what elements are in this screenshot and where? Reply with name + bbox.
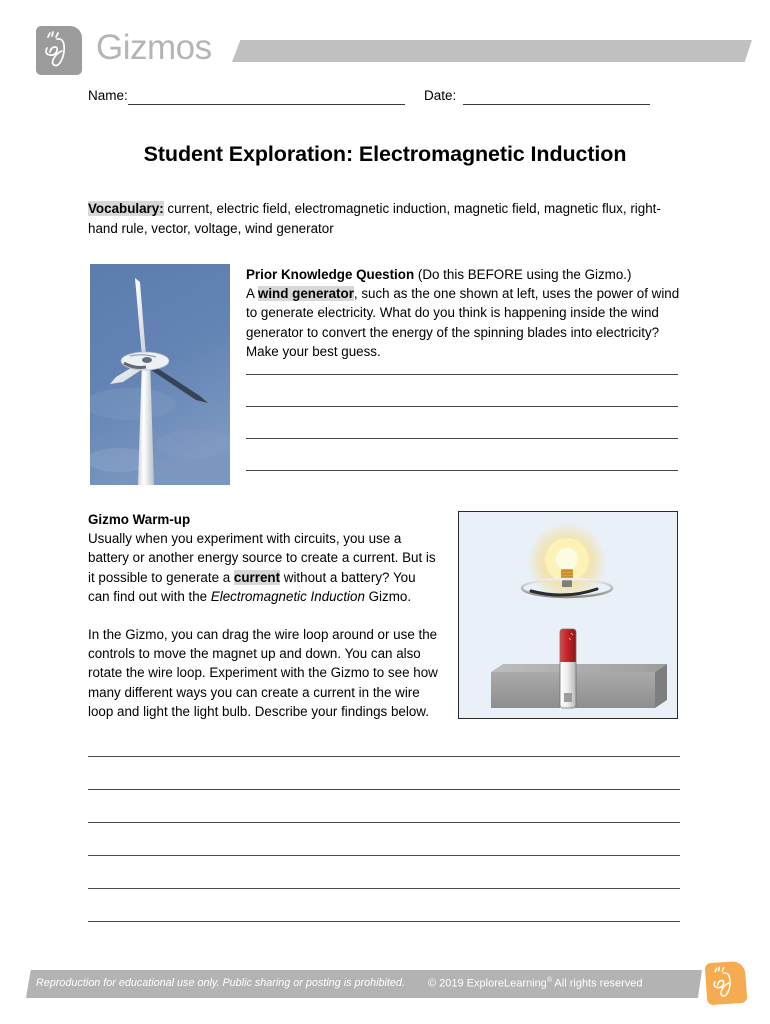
- answer-line[interactable]: [246, 406, 678, 407]
- warmup-answer-lines: [88, 756, 680, 954]
- answer-line[interactable]: [88, 888, 680, 889]
- wind-turbine-photo: [90, 264, 230, 485]
- answer-line[interactable]: [88, 756, 680, 757]
- date-label: Date:: [424, 88, 456, 103]
- footer-copyright: © 2019 ExploreLearning® All rights reser…: [428, 977, 642, 990]
- answer-line[interactable]: [88, 789, 680, 790]
- name-input-line[interactable]: [128, 104, 405, 105]
- warmup-heading: Gizmo Warm-up: [88, 510, 440, 529]
- page-footer: Reproduction for educational use only. P…: [0, 966, 770, 1024]
- el-monogram-logo-icon: [36, 26, 82, 75]
- answer-line[interactable]: [88, 921, 680, 922]
- footer-notice: Reproduction for educational use only. P…: [36, 977, 405, 989]
- copyright-text: © 2019 ExploreLearning: [428, 978, 547, 990]
- vocabulary-terms: current, electric field, electromagnetic…: [88, 201, 661, 236]
- brand-name: Gizmos: [96, 26, 212, 70]
- page-header: Gizmos: [0, 0, 770, 86]
- answer-line[interactable]: [88, 855, 680, 856]
- vocabulary-label: Vocabulary:: [88, 201, 164, 216]
- warmup-highlight-term: current: [234, 570, 280, 585]
- warmup-paragraph-1: Usually when you experiment with circuit…: [88, 529, 440, 606]
- answer-line[interactable]: [246, 438, 678, 439]
- name-label: Name:: [88, 88, 128, 103]
- answer-line[interactable]: [246, 374, 678, 375]
- name-date-row: Name: Date:: [88, 88, 688, 110]
- answer-line[interactable]: [246, 470, 678, 471]
- pkq-heading-note: (Do this BEFORE using the Gizmo.): [414, 267, 631, 282]
- worksheet-page: Gizmos Name: Date: Student Exploration: …: [0, 0, 770, 1024]
- rights-text: All rights reserved: [552, 978, 642, 990]
- warmup-paragraph-2: In the Gizmo, you can drag the wire loop…: [88, 625, 440, 721]
- vocabulary-section: Vocabulary: current, electric field, ele…: [88, 199, 678, 238]
- prior-knowledge-question: Prior Knowledge Question (Do this BEFORE…: [246, 265, 682, 361]
- gizmo-warmup-section: Gizmo Warm-up Usually when you experimen…: [88, 510, 440, 721]
- footer-el-monogram-logo-icon: [706, 962, 746, 1004]
- warmup-gizmo-name: Electromagnetic Induction: [211, 589, 365, 604]
- pkq-body-part1: A: [246, 286, 258, 301]
- header-banner-bar: [232, 40, 752, 62]
- page-title: Student Exploration: Electromagnetic Ind…: [0, 142, 770, 167]
- electromagnetic-induction-gizmo-image: [458, 511, 678, 719]
- prior-knowledge-answer-lines: [246, 374, 678, 502]
- pkq-heading: Prior Knowledge Question: [246, 267, 414, 282]
- date-input-line[interactable]: [463, 104, 650, 105]
- answer-line[interactable]: [88, 822, 680, 823]
- pkq-highlight-term: wind generator: [258, 286, 354, 301]
- warmup-p1-part3: Gizmo.: [365, 589, 411, 604]
